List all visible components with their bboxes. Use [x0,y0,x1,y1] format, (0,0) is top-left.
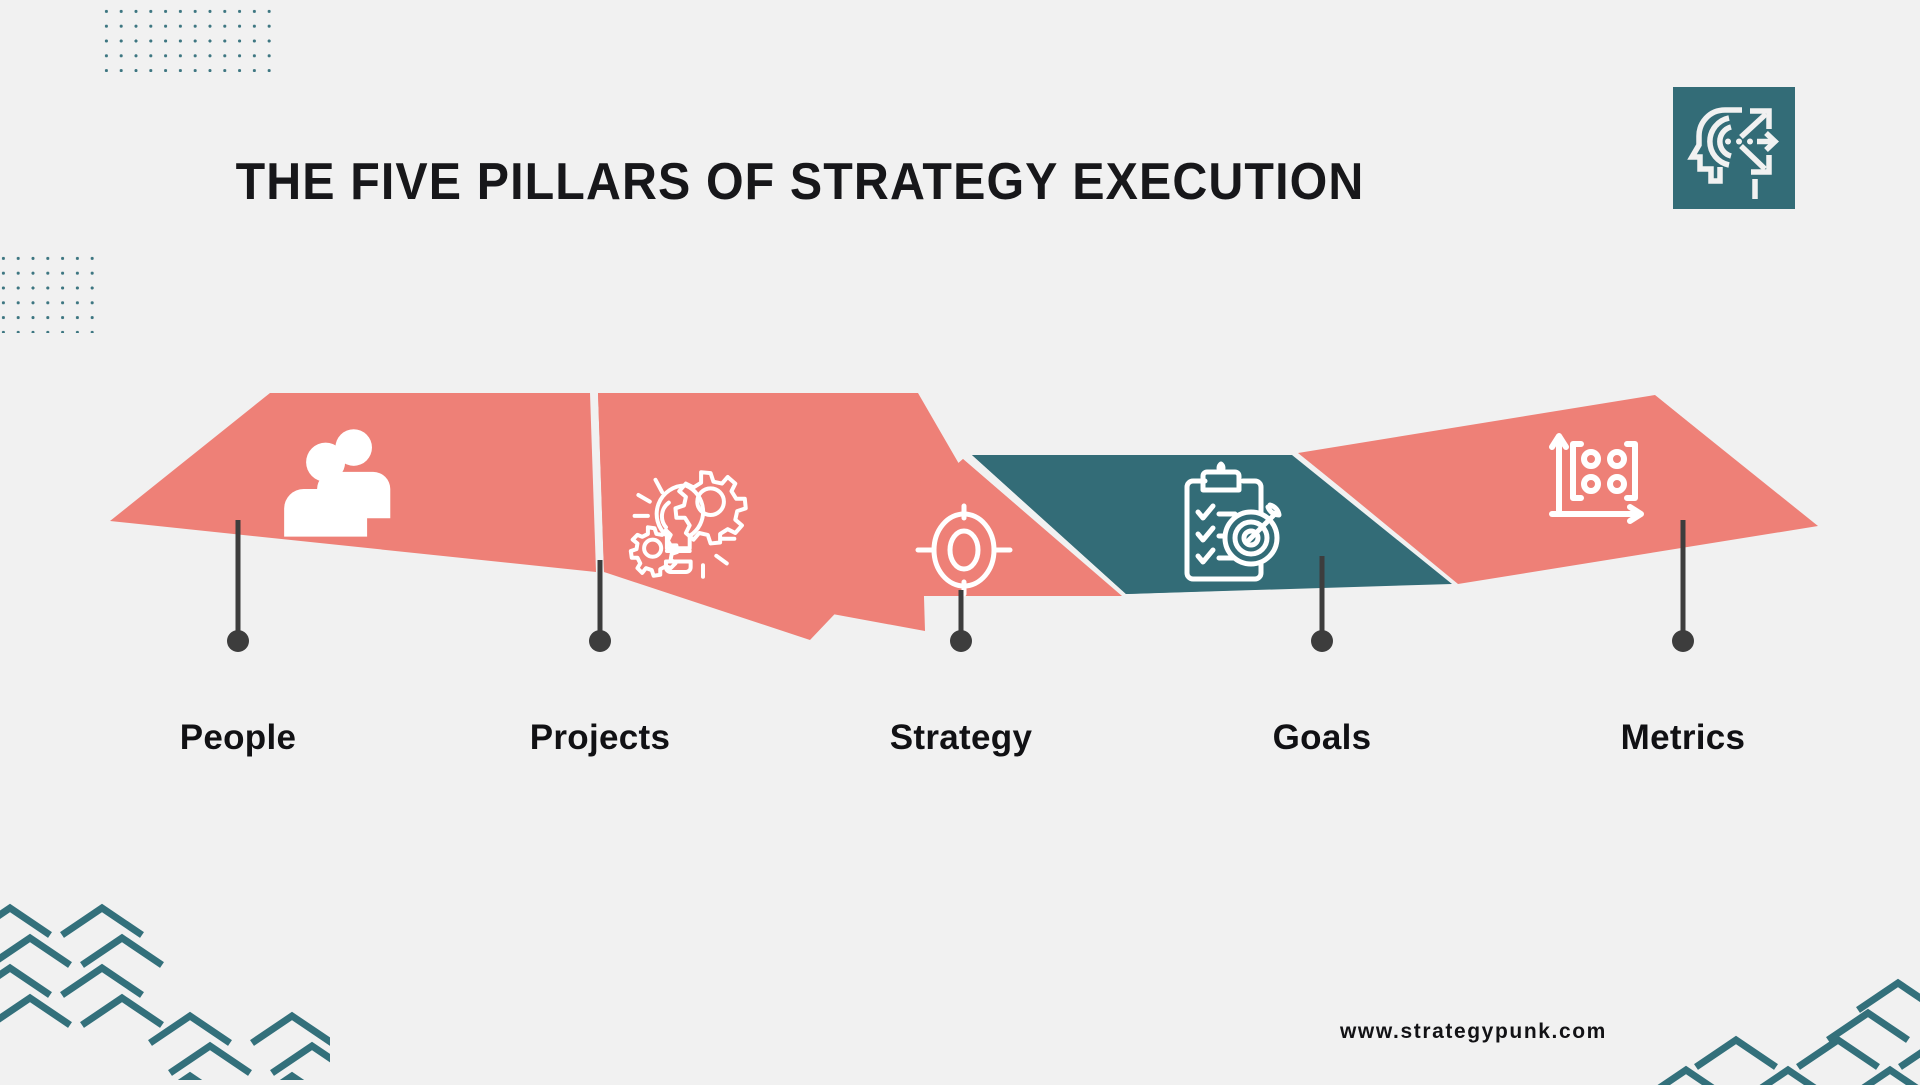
pillar-label-strategy: Strategy [811,718,1111,758]
ribbon-segment-people[interactable] [110,393,596,572]
pillar-label-goals: Goals [1172,718,1472,758]
pillar-label-projects: Projects [450,718,750,758]
pillar-marker-strategy [950,590,972,652]
site-url[interactable]: www.strategypunk.com [1340,1020,1607,1044]
infographic-canvas: THE FIVE PILLARS OF STRATEGY EXECUTION [0,0,1920,1080]
pillar-marker-people [227,520,249,652]
pillar-label-people: People [88,718,388,758]
pillars-ribbon-diagram [0,0,1920,1080]
pillar-marker-projects [589,560,611,652]
pillar-label-metrics: Metrics [1533,718,1833,758]
